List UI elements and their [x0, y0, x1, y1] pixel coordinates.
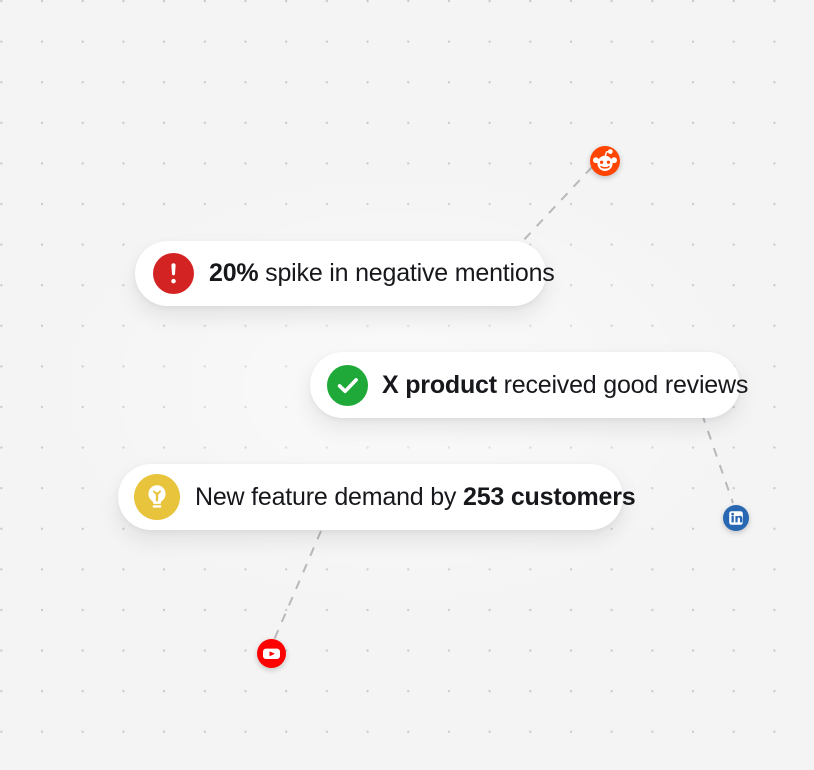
alert-exclamation-icon	[153, 253, 194, 294]
reddit-icon[interactable]	[590, 146, 620, 176]
linkedin-icon[interactable]	[723, 505, 749, 531]
positive-rest-text: received good reviews	[497, 371, 748, 399]
check-circle-icon	[327, 365, 368, 406]
idea-rest-text: New feature demand by	[195, 483, 463, 511]
connector-positive-card-to-linkedin	[702, 414, 733, 503]
insight-card-positive-text: X product received good reviews	[382, 371, 748, 400]
insight-card-positive[interactable]: X product received good reviews	[310, 352, 740, 418]
insight-card-alert[interactable]: 20% spike in negative mentions	[135, 241, 546, 306]
youtube-icon[interactable]	[257, 639, 286, 668]
connector-reddit-to-alert-card	[521, 167, 592, 243]
lightbulb-icon	[134, 474, 180, 520]
insight-card-alert-text: 20% spike in negative mentions	[209, 259, 555, 288]
alert-rest-text: spike in negative mentions	[258, 259, 554, 287]
positive-emphasis-text: X product	[382, 371, 497, 399]
idea-emphasis-text: 253 customers	[463, 483, 636, 511]
insight-card-idea-text: New feature demand by 253 customers	[195, 483, 635, 512]
connector-idea-card-to-youtube	[274, 531, 321, 640]
insight-card-idea[interactable]: New feature demand by 253 customers	[118, 464, 623, 530]
alert-emphasis-text: 20%	[209, 259, 258, 287]
insights-canvas: 20% spike in negative mentions X product…	[0, 0, 814, 770]
